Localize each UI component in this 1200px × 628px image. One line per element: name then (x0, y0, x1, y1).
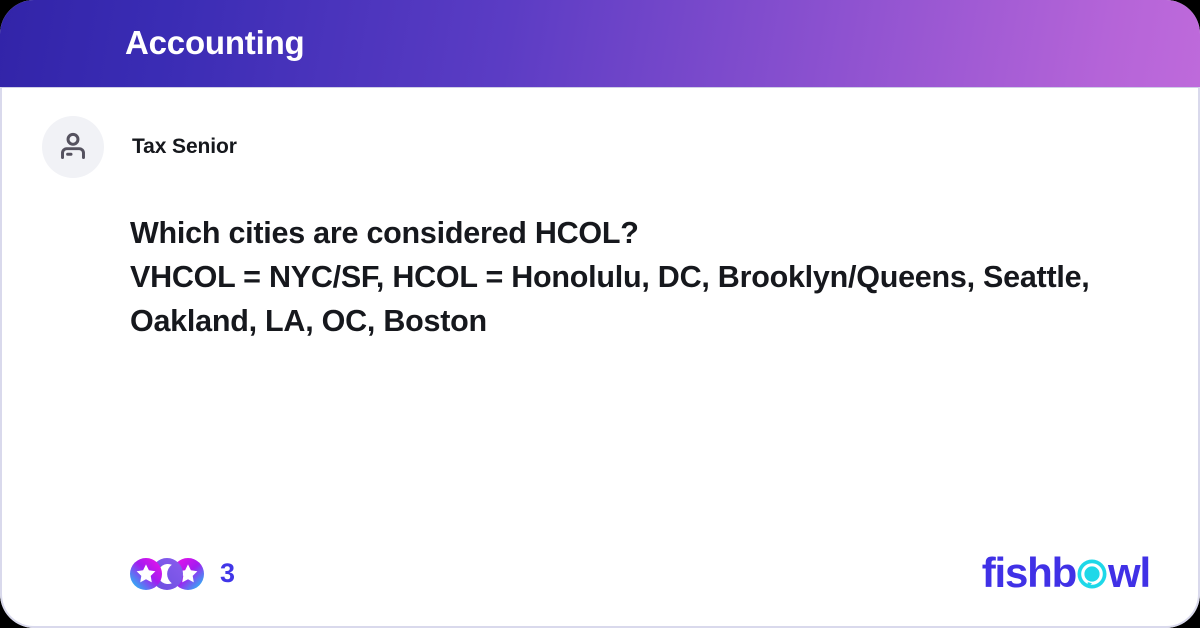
logo-text-after: wl (1108, 552, 1150, 594)
author-name: Tax Senior (132, 135, 237, 159)
reaction-icon-stack[interactable] (130, 558, 204, 590)
page-title: Accounting (125, 26, 304, 59)
logo-text-before: fishb (982, 552, 1076, 594)
reaction-count: 3 (220, 560, 235, 587)
post-card: Accounting Tax Senior Which cities are c… (0, 0, 1200, 628)
reactions-group[interactable]: 3 (130, 558, 235, 590)
post-body-text: Which cities are considered HCOL? VHCOL … (130, 211, 1130, 343)
author-row[interactable]: Tax Senior (42, 116, 237, 178)
star-reaction-icon[interactable] (130, 558, 162, 590)
card-header: Accounting (0, 0, 1200, 87)
avatar (42, 116, 104, 178)
card-footer: 3 fishb wl (2, 516, 1198, 626)
fishbowl-o-icon (1077, 559, 1107, 589)
person-icon (56, 130, 90, 164)
fishbowl-logo[interactable]: fishb wl (982, 552, 1150, 594)
card-body: Tax Senior Which cities are considered H… (0, 87, 1200, 628)
